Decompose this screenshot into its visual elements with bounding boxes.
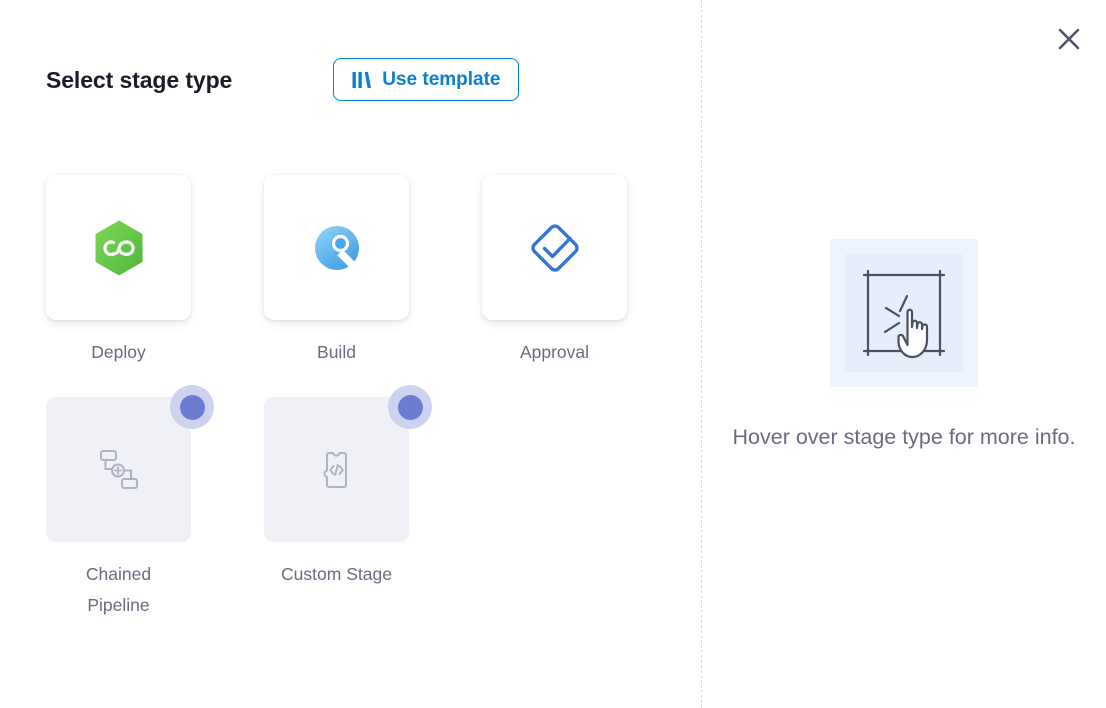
stage-label-deploy: Deploy: [91, 337, 145, 368]
stage-tile-wrap-custom-stage: [264, 397, 409, 542]
stage-tile-build[interactable]: [264, 175, 409, 320]
stage-tile-chained-pipeline: [46, 397, 191, 542]
page-title: Select stage type: [46, 66, 232, 94]
stage-type-grid: Deploy: [46, 175, 666, 621]
illustration-inner-plate: [845, 254, 963, 372]
stage-badge-custom-stage: [388, 385, 432, 429]
hand-click-line-art-icon: [852, 261, 956, 365]
chained-pipeline-icon: [98, 448, 140, 492]
select-stage-type-dialog: Select stage type Use template: [0, 0, 1106, 708]
stage-card-deploy[interactable]: Deploy: [46, 175, 191, 368]
stage-row-primary: Deploy: [46, 175, 666, 368]
stage-label-build: Build: [317, 337, 356, 368]
click-hand-pointer-illustration: [830, 239, 978, 387]
stage-card-build[interactable]: Build: [264, 175, 409, 368]
left-panel: Select stage type Use template: [0, 0, 701, 708]
harness-cd-hexagon-infinity-icon: [92, 219, 146, 277]
panel-header: Select stage type Use template: [46, 58, 519, 101]
stage-tile-wrap-deploy: [46, 175, 191, 320]
stage-tile-wrap-approval: [482, 175, 627, 320]
stage-card-custom-stage: Custom Stage: [264, 397, 409, 621]
stage-label-approval: Approval: [520, 337, 589, 368]
stage-tile-wrap-chained-pipeline: [46, 397, 191, 542]
stage-tile-deploy[interactable]: [46, 175, 191, 320]
use-template-label: Use template: [382, 69, 500, 91]
use-template-button[interactable]: Use template: [333, 58, 518, 101]
stage-badge-inner-dot: [398, 395, 423, 420]
stage-card-approval[interactable]: Approval: [482, 175, 627, 368]
stage-label-custom-stage: Custom Stage: [281, 559, 392, 590]
build-magnifier-circle-icon: [311, 222, 363, 274]
stage-row-secondary: Chained Pipeline: [46, 397, 666, 621]
right-info-panel: Hover over stage type for more info.: [702, 0, 1106, 708]
template-library-icon: [351, 70, 373, 90]
custom-stage-puzzle-code-icon: [316, 449, 358, 491]
stage-tile-wrap-build: [264, 175, 409, 320]
stage-tile-custom-stage: [264, 397, 409, 542]
stage-card-chained-pipeline: Chained Pipeline: [46, 397, 191, 621]
stage-label-chained-pipeline: Chained Pipeline: [54, 559, 184, 621]
stage-badge-chained-pipeline: [170, 385, 214, 429]
hover-hint-text: Hover over stage type for more info.: [728, 422, 1080, 453]
stage-tile-approval[interactable]: [482, 175, 627, 320]
approval-diamond-check-icon: [528, 221, 582, 275]
stage-badge-inner-dot: [180, 395, 205, 420]
